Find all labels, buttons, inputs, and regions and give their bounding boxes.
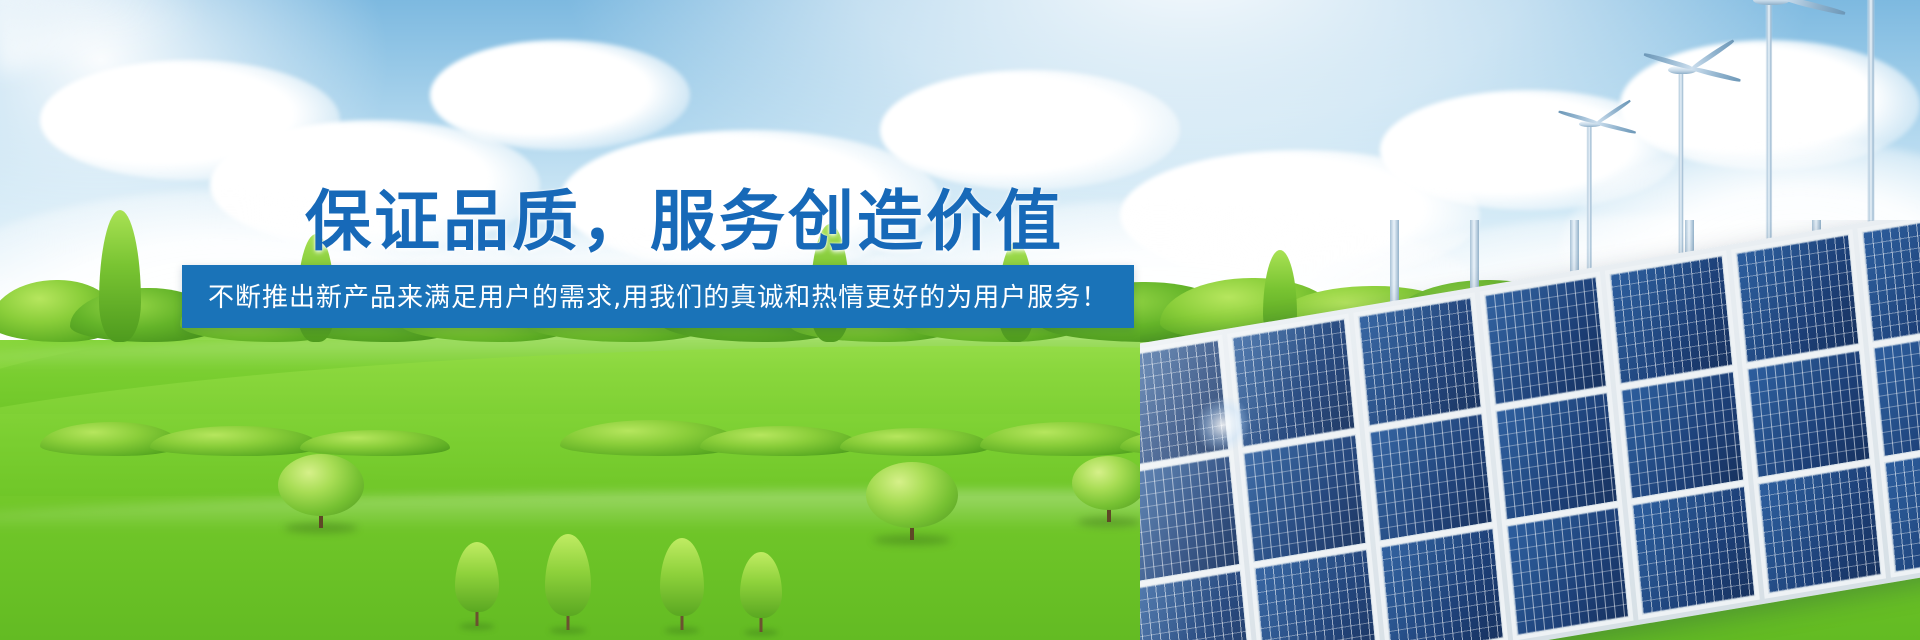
solar-cell-block — [1140, 339, 1229, 468]
tree-trunk — [319, 514, 323, 528]
solar-cell-block — [1506, 507, 1630, 636]
conifer-crown — [99, 210, 141, 342]
solar-cell-block — [1357, 297, 1481, 426]
solar-cell-block — [1632, 486, 1756, 615]
solar-cell-block — [1140, 455, 1240, 584]
solar-cell-block — [1231, 318, 1355, 447]
solar-cell-block — [1140, 570, 1251, 640]
solar-cell-block — [1862, 220, 1920, 342]
tree-trunk — [1107, 508, 1111, 522]
banner-headline: 保证品质，服务创造价值 — [305, 168, 1064, 264]
round-tree — [278, 452, 364, 528]
solar-cell-block — [1368, 413, 1492, 542]
solar-cell-block — [1758, 465, 1882, 594]
hero-banner: 保证品质，服务创造价值 不断推出新产品来满足用户的需求,用我们的真诚和热情更好的… — [0, 0, 1920, 640]
solar-cell-block — [1736, 234, 1860, 363]
solar-cell-block — [1242, 434, 1366, 563]
tree-crown — [866, 462, 958, 528]
round-tree — [1072, 454, 1146, 522]
sun-ray-icon — [0, 0, 294, 72]
solar-cell-block — [1873, 328, 1920, 457]
solar-cell-block — [1495, 391, 1619, 520]
solar-cell-block — [1610, 255, 1734, 384]
banner-subtitle-bar: 不断推出新产品来满足用户的需求,用我们的真诚和热情更好的为用户服务！ — [182, 265, 1134, 328]
solar-cell-block — [1483, 276, 1607, 405]
banner-subtitle: 不断推出新产品来满足用户的需求,用我们的真诚和热情更好的为用户服务！ — [208, 277, 1108, 314]
solar-panel-array — [1140, 220, 1920, 640]
solar-cell-block — [1747, 349, 1871, 478]
solar-cell-block — [1884, 444, 1920, 573]
solar-cell-block — [1380, 528, 1504, 640]
tree-crown — [278, 454, 364, 516]
tree-trunk — [910, 526, 914, 540]
cloud-shape — [430, 40, 690, 150]
solar-cell-block — [1621, 370, 1745, 499]
round-tree — [866, 460, 958, 540]
solar-cell-block — [1253, 549, 1377, 640]
tree-crown — [1072, 456, 1146, 510]
solar-panel-grid — [1140, 220, 1920, 640]
